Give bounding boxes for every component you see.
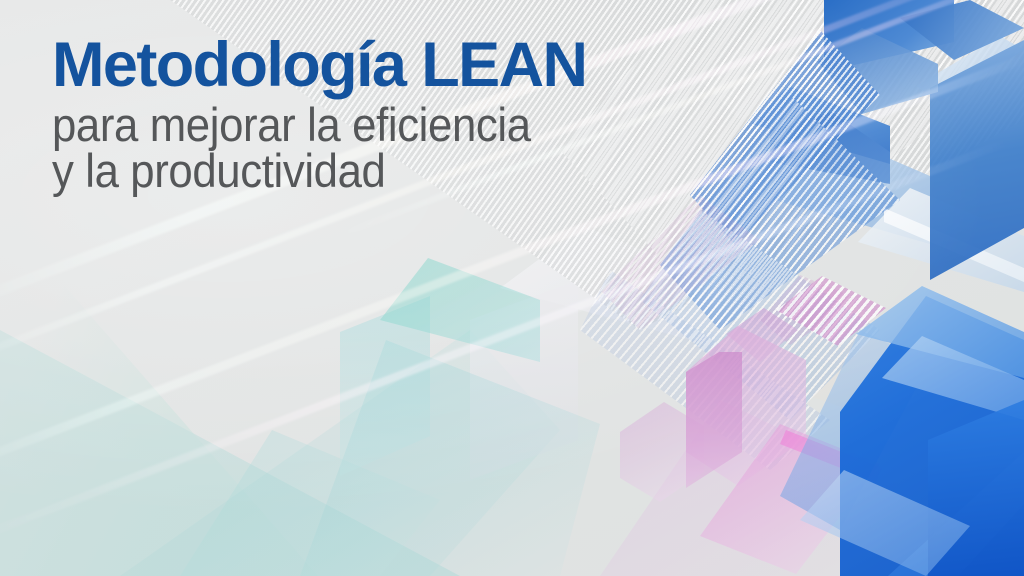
headline-block: Metodología LEAN para mejorar la eficien… <box>52 34 586 194</box>
lean-methodology-banner: Metodología LEAN para mejorar la eficien… <box>0 0 1024 576</box>
banner-title: Metodología LEAN <box>52 34 586 97</box>
banner-subtitle-line-1: para mejorar la eficiencia <box>52 102 549 148</box>
banner-subtitle: para mejorar la eficiencia y la producti… <box>52 102 549 194</box>
banner-subtitle-line-2: y la productividad <box>52 148 549 194</box>
